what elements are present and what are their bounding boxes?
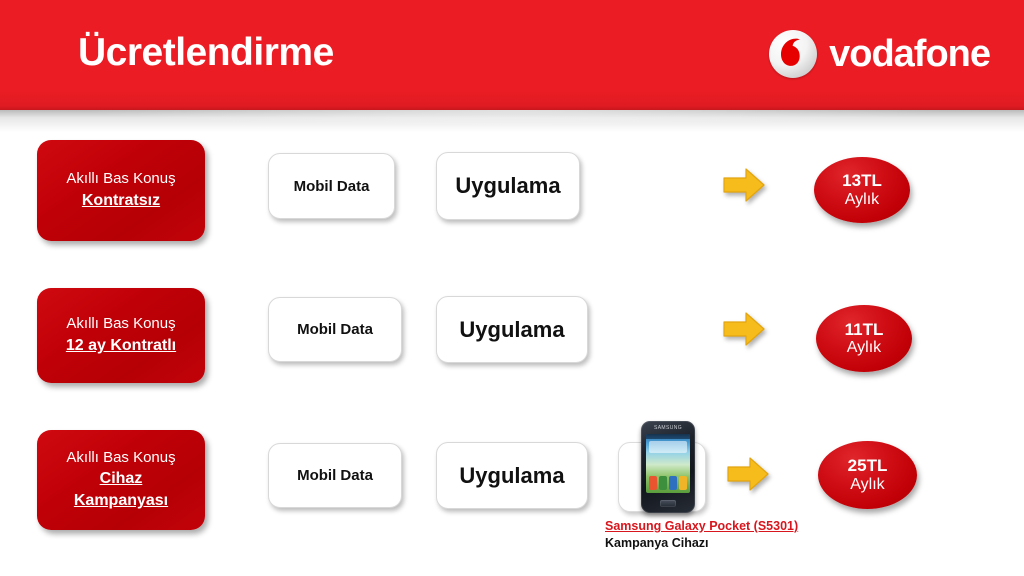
feature-label: Uygulama xyxy=(459,317,564,343)
price-badge-row-2[interactable]: 11TL Aylık xyxy=(816,305,912,372)
price-amount: 11TL xyxy=(845,320,884,340)
plan-card-row-3[interactable]: Akıllı Bas Konuş Cihaz Kampanyası xyxy=(37,430,205,530)
feature-box-uygulama-row-2[interactable]: Uygulama xyxy=(436,296,588,363)
arrow-right-icon-row-3 xyxy=(726,455,770,493)
feature-box-mobil-data-row-3[interactable]: Mobil Data xyxy=(268,443,402,508)
price-period: Aylık xyxy=(847,339,881,357)
feature-label: Mobil Data xyxy=(297,321,373,338)
phone-statusbar xyxy=(646,434,690,439)
device-note: Kampanya Cihazı xyxy=(605,536,835,552)
price-badge-row-3[interactable]: 25TL Aylık xyxy=(818,441,917,509)
device-caption-row-3: Samsung Galaxy Pocket (S5301) Kampanya C… xyxy=(605,519,835,551)
pricing-table: Akıllı Bas Konuş Kontratsız Mobil Data U… xyxy=(0,0,1024,576)
feature-label: Uygulama xyxy=(455,173,560,199)
plan-subtitle-line-1: Cihaz xyxy=(100,469,143,489)
phone-app-icons xyxy=(649,476,687,490)
device-name-link[interactable]: Samsung Galaxy Pocket (S5301) xyxy=(605,519,835,535)
feature-box-uygulama-row-1[interactable]: Uygulama xyxy=(436,152,580,220)
feature-label: Mobil Data xyxy=(297,467,373,484)
feature-box-uygulama-row-3[interactable]: Uygulama xyxy=(436,442,588,509)
feature-box-mobil-data-row-1[interactable]: Mobil Data xyxy=(268,153,395,219)
phone-brand-label: SAMSUNG xyxy=(641,425,695,431)
price-amount: 25TL xyxy=(848,456,888,476)
phone-home-button xyxy=(660,500,676,507)
device-box-row-3[interactable]: SAMSUNG xyxy=(618,442,706,512)
plan-title: Akıllı Bas Konuş xyxy=(66,449,175,468)
arrow-right-icon-row-1 xyxy=(722,166,766,204)
plan-subtitle: 12 ay Kontratlı xyxy=(66,336,176,356)
price-badge-row-1[interactable]: 13TL Aylık xyxy=(814,157,910,223)
plan-card-row-2[interactable]: Akıllı Bas Konuş 12 ay Kontratlı xyxy=(37,288,205,383)
arrow-right-icon-row-2 xyxy=(722,310,766,348)
plan-subtitle-line-2: Kampanyası xyxy=(74,491,168,511)
price-amount: 13TL xyxy=(842,171,882,191)
samsung-galaxy-pocket-phone-image: SAMSUNG xyxy=(641,421,695,513)
plan-title: Akıllı Bas Konuş xyxy=(66,315,175,334)
phone-widget xyxy=(649,441,687,453)
price-period: Aylık xyxy=(845,191,879,209)
phone-screen xyxy=(646,434,690,493)
plan-card-row-1[interactable]: Akıllı Bas Konuş Kontratsız xyxy=(37,140,205,241)
plan-subtitle: Kontratsız xyxy=(82,191,160,211)
feature-label: Mobil Data xyxy=(294,178,370,195)
feature-box-mobil-data-row-2[interactable]: Mobil Data xyxy=(268,297,402,362)
feature-label: Uygulama xyxy=(459,463,564,489)
plan-title: Akıllı Bas Konuş xyxy=(66,170,175,189)
price-period: Aylık xyxy=(850,476,884,494)
